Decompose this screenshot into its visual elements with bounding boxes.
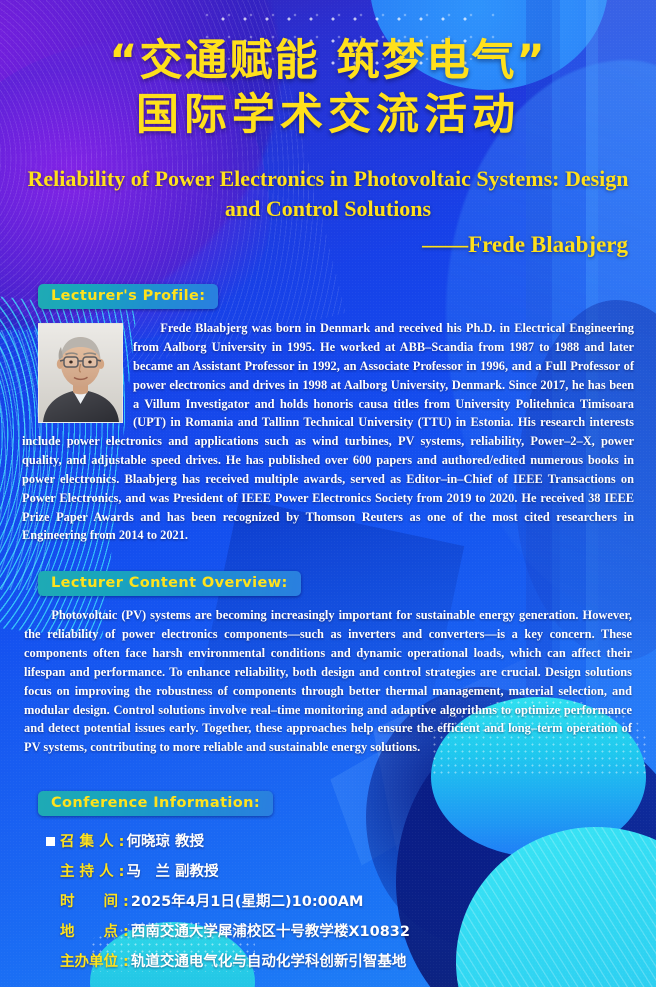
- bullet-spacer: [46, 867, 55, 876]
- overview-body: Photovoltaic (PV) systems are becoming i…: [20, 606, 636, 757]
- title-cn-line-1: “交通赋能 筑梦电气”: [0, 34, 656, 88]
- conference-details-list: 召 集 人 :何晓琼 教授主 持 人 :马 兰 副教授时 间 :2025年4月1…: [46, 830, 656, 971]
- section-conference-information: Conference Information: 召 集 人 :何晓琼 教授主 持…: [0, 791, 656, 971]
- conference-row-label: 召 集 人 :: [60, 830, 124, 851]
- section-lecturer-profile: Lecturer's Profile:: [0, 284, 656, 545]
- list-item: 主 持 人 :马 兰 副教授: [46, 860, 656, 881]
- title-block: “交通赋能 筑梦电气” 国际学术交流活动 Reliability of Powe…: [0, 0, 656, 258]
- badge-conference-information: Conference Information:: [38, 791, 273, 816]
- title-en: Reliability of Power Electronics in Phot…: [14, 164, 642, 224]
- overview-text: Photovoltaic (PV) systems are becoming i…: [20, 606, 636, 757]
- conference-row-value: 2025年4月1日(星期二)10:00AM: [131, 890, 364, 911]
- list-item: 召 集 人 :何晓琼 教授: [46, 830, 656, 851]
- speaker-byline: ——Frede Blaabjerg: [0, 232, 628, 258]
- page-title: “交通赋能 筑梦电气” 国际学术交流活动: [0, 34, 656, 142]
- conference-row-label: 主办单位 :: [60, 950, 129, 971]
- conference-row-value: 轨道交通电气化与自动化学科创新引智基地: [131, 950, 407, 971]
- list-item: 地 点 :西南交通大学犀浦校区十号教学楼X10832: [46, 920, 656, 941]
- conference-row-label: 地 点 :: [60, 920, 129, 941]
- portrait-icon: [39, 324, 122, 422]
- conference-row-label: 主 持 人 :: [60, 860, 124, 881]
- conference-row-value: 马 兰 副教授: [126, 860, 218, 881]
- bullet-spacer: [46, 897, 55, 906]
- profile-body: Frede Blaabjerg was born in Denmark and …: [18, 319, 638, 545]
- badge-content-overview: Lecturer Content Overview:: [38, 571, 301, 596]
- poster-content: “交通赋能 筑梦电气” 国际学术交流活动 Reliability of Powe…: [0, 0, 656, 971]
- badge-lecturers-profile: Lecturer's Profile:: [38, 284, 218, 309]
- title-cn-line-2: 国际学术交流活动: [0, 88, 656, 142]
- conference-row-value: 西南交通大学犀浦校区十号教学楼X10832: [131, 920, 410, 941]
- section-content-overview: Lecturer Content Overview: Photovoltaic …: [0, 571, 656, 757]
- avatar: [38, 323, 123, 423]
- conference-row-value: 何晓琼 教授: [126, 830, 204, 851]
- square-bullet-icon: [46, 837, 55, 846]
- list-item: 时 间 :2025年4月1日(星期二)10:00AM: [46, 890, 656, 911]
- conference-row-label: 时 间 :: [60, 890, 129, 911]
- bullet-spacer: [46, 927, 55, 936]
- bullet-spacer: [46, 957, 55, 966]
- list-item: 主办单位 :轨道交通电气化与自动化学科创新引智基地: [46, 950, 656, 971]
- conference-poster: “交通赋能 筑梦电气” 国际学术交流活动 Reliability of Powe…: [0, 0, 656, 987]
